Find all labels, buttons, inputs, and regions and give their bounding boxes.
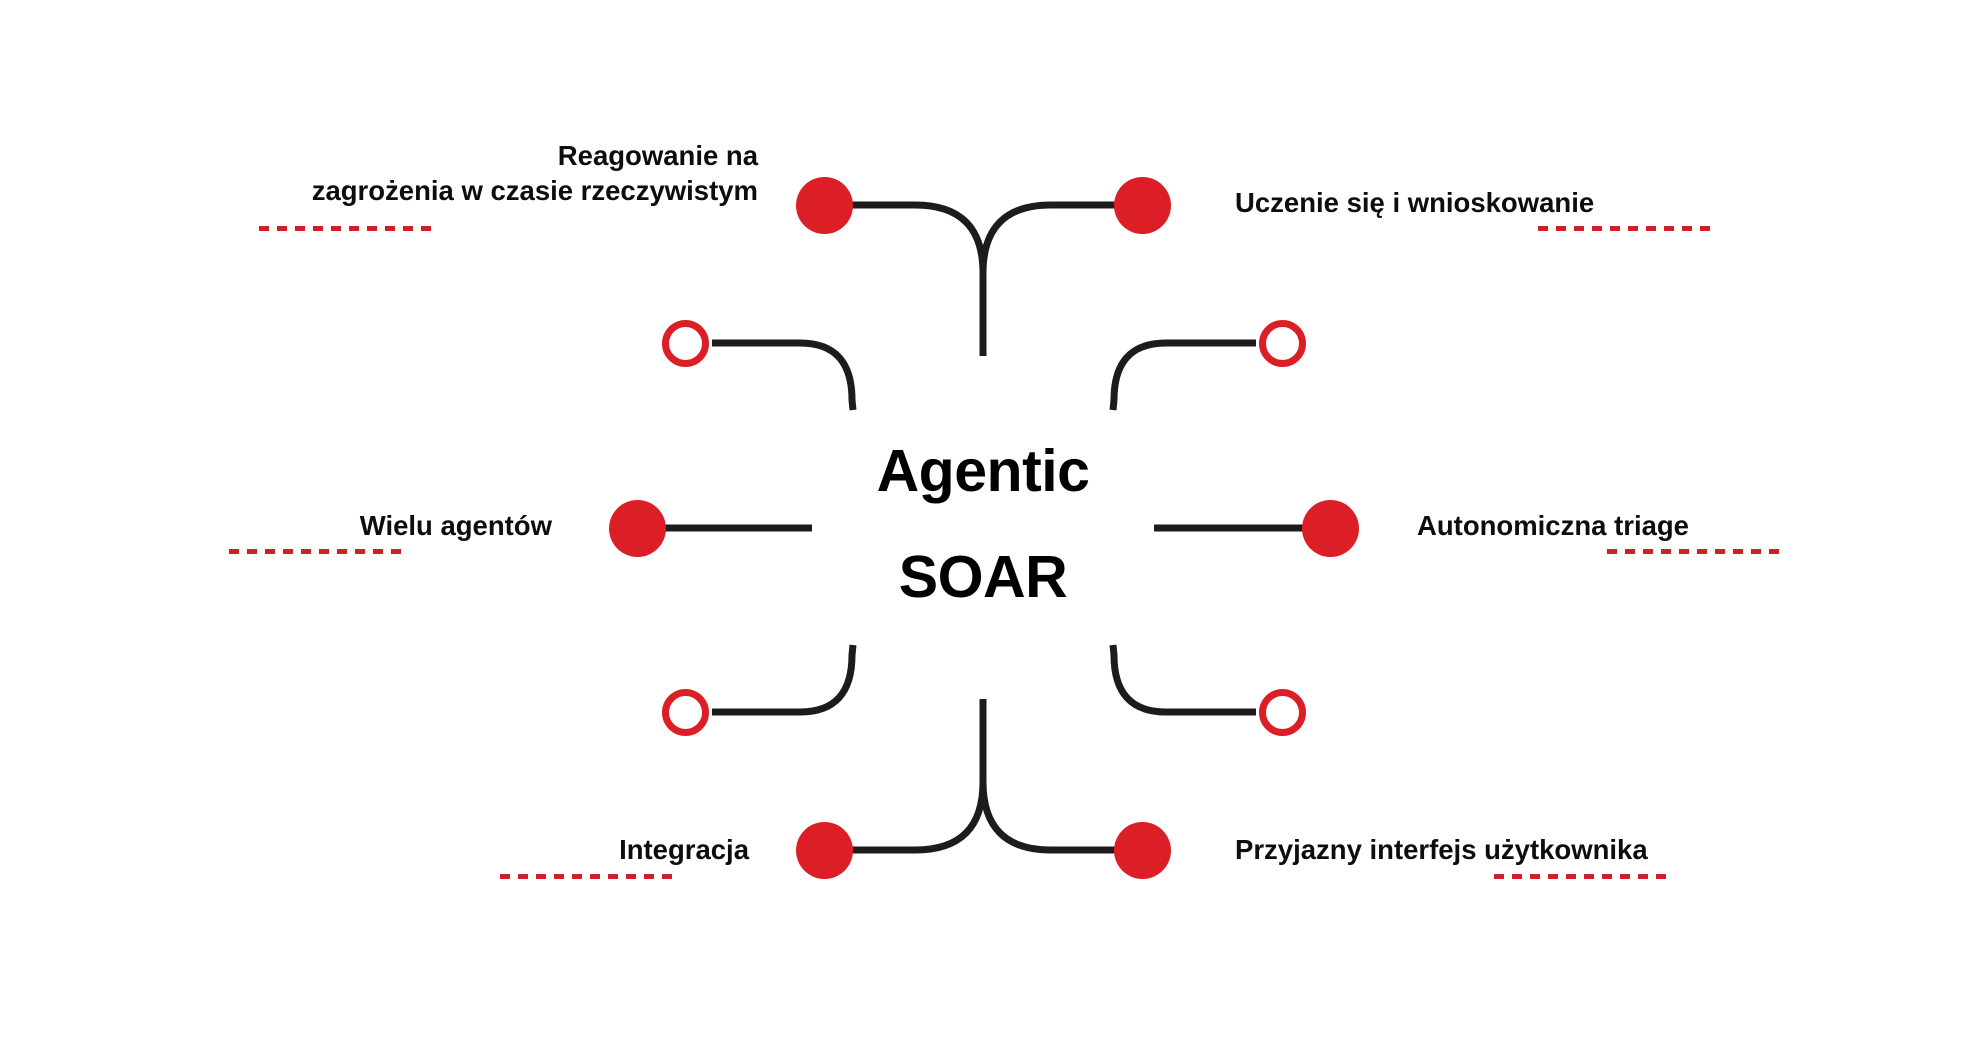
label-top-left[interactable]: Reagowanie na zagrożenia w czasie rzeczy… <box>88 138 758 208</box>
wire-lower-mid-left <box>712 645 853 712</box>
label-middle-left-text: Wielu agentów <box>0 508 552 543</box>
label-bottom-left-underline <box>500 874 674 879</box>
label-top-left-line1: Reagowanie na <box>88 138 758 173</box>
wire-top-left <box>851 205 983 356</box>
label-top-right-text: Uczenie się i wnioskowanie <box>1235 185 1895 220</box>
wire-lower-mid-right <box>1113 645 1256 712</box>
label-top-left-line2: zagrożenia w czasie rzeczywistym <box>88 173 758 208</box>
node-middle-left-dot[interactable] <box>609 500 666 557</box>
node-bottom-right-dot[interactable] <box>1114 822 1171 879</box>
label-middle-right-underline <box>1607 549 1781 554</box>
node-upper-mid-left-ring[interactable] <box>662 320 709 367</box>
label-top-right[interactable]: Uczenie się i wnioskowanie <box>1235 185 1895 220</box>
wire-bottom-left <box>851 699 983 850</box>
node-middle-right-dot[interactable] <box>1302 500 1359 557</box>
center-title-line1: Agentic <box>733 418 1233 524</box>
node-lower-mid-right-ring[interactable] <box>1259 689 1306 736</box>
wire-upper-mid-left <box>712 343 853 410</box>
node-lower-mid-left-ring[interactable] <box>662 689 709 736</box>
node-upper-mid-right-ring[interactable] <box>1259 320 1306 367</box>
wire-bottom-right <box>983 782 1117 850</box>
label-middle-right-text: Autonomiczna triage <box>1417 508 1957 543</box>
label-bottom-left-text: Integracja <box>160 832 749 867</box>
wire-top-right <box>983 205 1117 273</box>
label-middle-left[interactable]: Wielu agentów <box>0 508 552 543</box>
diagram-canvas: Agentic SOAR Reagowanie na zagrożenia w … <box>0 0 1966 1054</box>
node-top-right-dot[interactable] <box>1114 177 1171 234</box>
node-top-left-dot[interactable] <box>796 177 853 234</box>
label-bottom-left[interactable]: Integracja <box>160 832 749 867</box>
label-middle-left-underline <box>229 549 403 554</box>
center-title: Agentic SOAR <box>733 418 1233 630</box>
label-bottom-right[interactable]: Przyjazny interfejs użytkownika <box>1235 832 1935 867</box>
center-title-line2: SOAR <box>733 524 1233 630</box>
wire-upper-mid-right <box>1113 343 1256 410</box>
label-top-left-underline <box>259 226 433 231</box>
label-bottom-right-text: Przyjazny interfejs użytkownika <box>1235 832 1935 867</box>
label-top-right-underline <box>1538 226 1712 231</box>
node-bottom-left-dot[interactable] <box>796 822 853 879</box>
label-bottom-right-underline <box>1494 874 1668 879</box>
label-middle-right[interactable]: Autonomiczna triage <box>1417 508 1957 543</box>
